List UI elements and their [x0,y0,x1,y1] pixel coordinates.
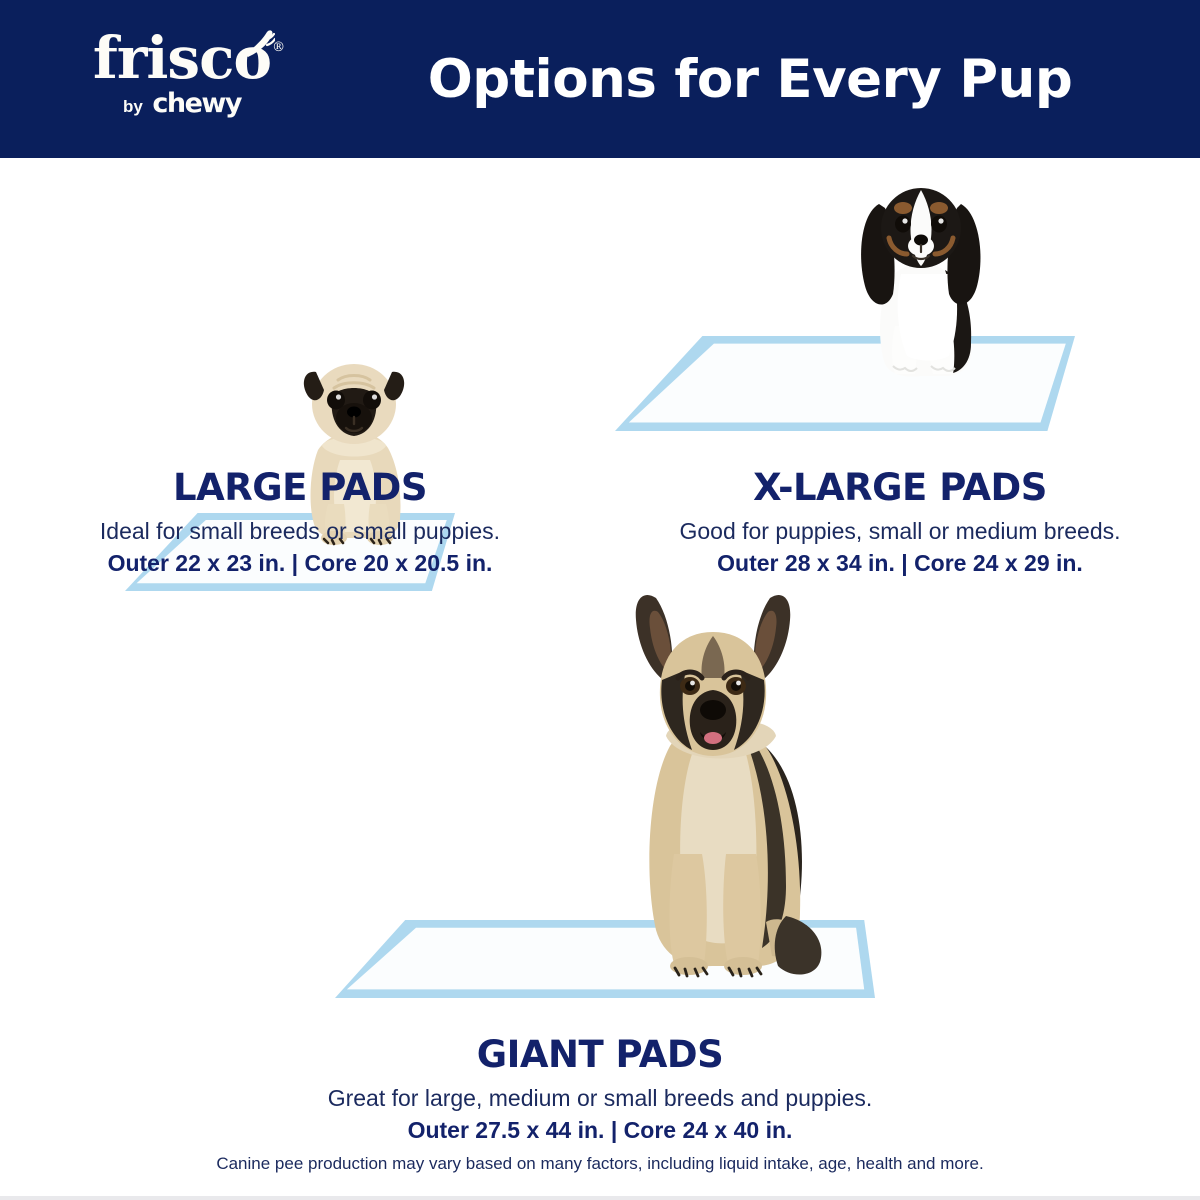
product-title-large: LARGE PADS [0,466,600,510]
product-description-large: Ideal for small breeds or small puppies. [0,515,600,547]
product-description-xlarge: Good for puppies, small or medium breeds… [600,515,1200,547]
product-panel-xlarge: X-LARGE PADS Good for puppies, small or … [600,158,1200,578]
caption-xlarge: X-LARGE PADS Good for puppies, small or … [600,466,1200,579]
product-panel-large: LARGE PADS Ideal for small breeds or sma… [0,158,600,578]
product-description-giant: Great for large, medium or small breeds … [0,1082,1200,1114]
product-dimensions-large: Outer 22 x 23 in. | Core 20 x 20.5 in. [0,548,600,579]
dog-illustration-cavalier [845,170,997,382]
caption-large: LARGE PADS Ideal for small breeds or sma… [0,466,600,579]
dog-illustration-german-shepherd [600,586,850,986]
frisco-logo: frisco ® by chewy [62,26,302,138]
caption-giant: GIANT PADS Great for large, medium or sm… [0,1033,1200,1146]
disclaimer-text: Canine pee production may vary based on … [0,1152,1200,1176]
product-dimensions-giant: Outer 27.5 x 44 in. | Core 24 x 40 in. [0,1115,1200,1146]
brand-wordmark: frisco ® [93,26,271,90]
product-dimensions-xlarge: Outer 28 x 34 in. | Core 24 x 29 in. [600,548,1200,579]
page-title: Options for Every Pup [320,0,1180,158]
dog-tail-icon [241,28,275,58]
product-title-xlarge: X-LARGE PADS [600,466,1200,510]
brand-tagline: by chewy [62,91,302,121]
page-header: frisco ® by chewy Options for Every Pup [0,0,1200,158]
footer-divider [0,1196,1200,1200]
brand-by-label: by [123,97,143,116]
product-title-giant: GIANT PADS [0,1033,1200,1077]
product-panel-giant: GIANT PADS Great for large, medium or sm… [0,578,1200,1138]
brand-parent-label: chewy [152,88,241,119]
